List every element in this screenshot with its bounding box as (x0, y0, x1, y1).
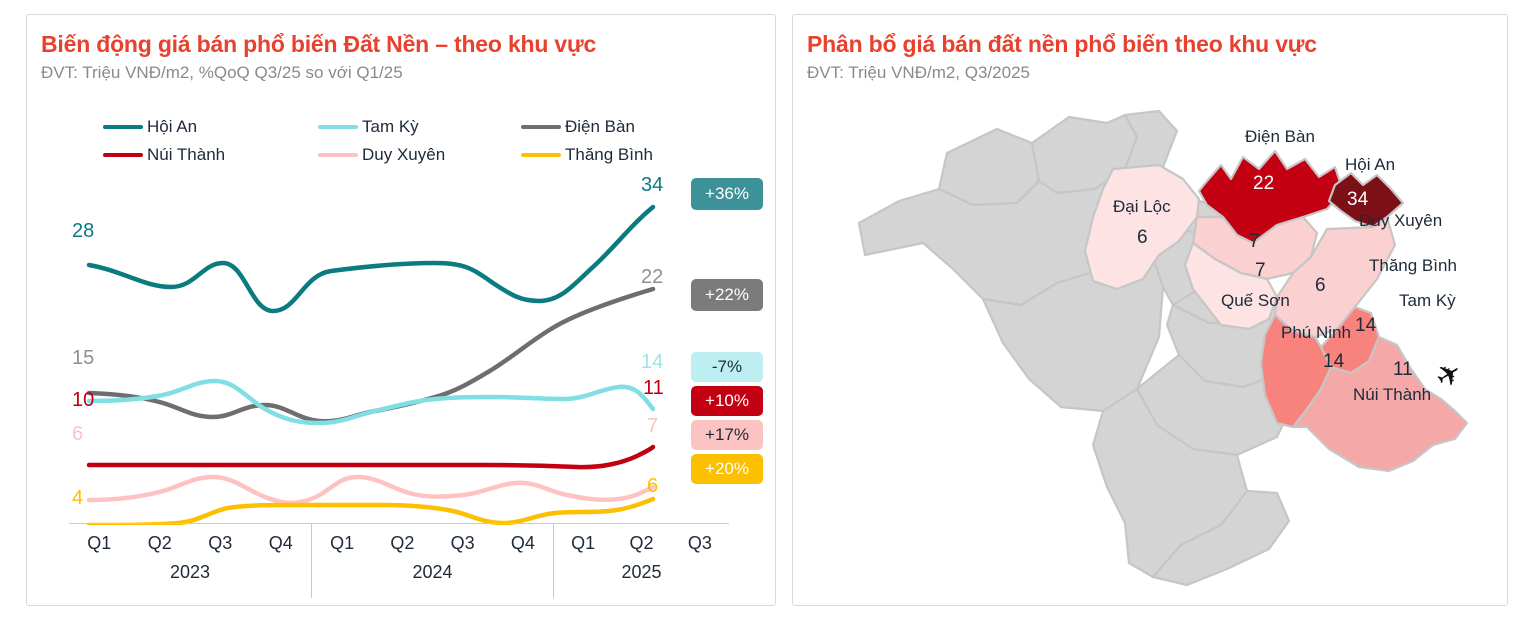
axis-year-label-2024: 2024 (312, 562, 553, 598)
line-chart-card: Biến động giá bán phổ biến Đất Nền – the… (26, 14, 776, 606)
end-label-thang-binh: 6 (647, 475, 658, 498)
axis-tick-2023-q1: Q1 (69, 533, 130, 554)
right-panel-title: Phân bổ giá bán đất nền phổ biến theo kh… (807, 31, 1317, 58)
legend-item-dien-ban[interactable]: Điện Bàn (521, 117, 701, 137)
axis-tick-2023-q2: Q2 (130, 533, 191, 554)
left-panel-subtitle: ĐVT: Triệu VNĐ/m2, %QoQ Q3/25 so với Q1/… (41, 63, 403, 83)
map-value-duy-xuyen: 7 (1249, 231, 1260, 253)
axis-tick-2024-q1: Q1 (312, 533, 372, 554)
axis-quarter-row-2023: Q1 Q2 Q3 Q4 (69, 524, 311, 562)
start-label-duy-xuyen: 6 (72, 423, 83, 446)
axis-quarter-row-2025: Q1 Q2 Q3 (554, 524, 729, 562)
legend-swatch-duy-xuyen (318, 153, 358, 157)
map-label-que-son: Quế Sơn (1221, 291, 1290, 311)
map-value-que-son: 7 (1255, 260, 1266, 282)
start-label-thang-binh: 4 (72, 487, 83, 510)
end-label-nui-thanh: 11 (643, 377, 664, 400)
legend-label-thang-binh: Thăng Bình (565, 145, 653, 165)
dashboard-root: Biến động giá bán phổ biến Đất Nền – the… (0, 0, 1530, 626)
axis-tick-2025-q3: Q3 (671, 533, 729, 554)
legend-label-tam-ky: Tam Kỳ (362, 117, 419, 137)
map-label-hoi-an: Hội An (1345, 155, 1395, 175)
choropleth-map: Điện Bàn 22 Hội An 34 Đại Lộc 6 Duy Xuyê… (807, 93, 1497, 593)
chart-svg (53, 165, 753, 525)
axis-tick-2024-q3: Q3 (433, 533, 493, 554)
map-label-duy-xuyen: Duy Xuyên (1359, 211, 1442, 231)
map-value-thang-binh: 6 (1315, 275, 1326, 297)
series-line-thang-binh (89, 499, 653, 525)
axis-tick-2025-q1: Q1 (554, 533, 612, 554)
axis-tick-2024-q2: Q2 (372, 533, 432, 554)
legend-label-hoi-an: Hội An (147, 117, 197, 137)
map-label-dai-loc: Đại Lộc (1113, 197, 1171, 217)
chart-x-axis: Q1 Q2 Q3 Q4 2023 Q1 Q2 Q3 Q4 2024 (69, 523, 729, 597)
badge-hoi-an: +36% (691, 178, 763, 210)
axis-tick-2023-q4: Q4 (251, 533, 312, 554)
map-value-hoi-an: 34 (1347, 189, 1368, 211)
end-label-dien-ban: 22 (641, 266, 663, 289)
start-label-nui-thanh: 10 (72, 389, 94, 412)
legend-item-tam-ky[interactable]: Tam Kỳ (318, 117, 521, 137)
badge-tam-ky: -7% (691, 352, 763, 382)
axis-tick-2025-q2: Q2 (612, 533, 670, 554)
legend-label-nui-thanh: Núi Thành (147, 145, 225, 165)
map-label-dien-ban: Điện Bàn (1245, 127, 1315, 147)
axis-year-label-2023: 2023 (69, 562, 311, 598)
chart-plot-area (53, 165, 753, 525)
map-label-nui-thanh: Núi Thành (1353, 385, 1431, 405)
start-label-hoi-an: 28 (72, 220, 94, 243)
map-region-tay-giang[interactable] (939, 129, 1039, 205)
axis-quarter-row-2024: Q1 Q2 Q3 Q4 (312, 524, 553, 562)
badge-dien-ban: +22% (691, 279, 763, 311)
axis-year-2025: Q1 Q2 Q3 2025 (553, 524, 729, 598)
axis-tick-2023-q3: Q3 (190, 533, 251, 554)
start-label-dien-ban: 15 (72, 347, 94, 370)
series-line-hoi-an (89, 207, 653, 311)
legend-swatch-nui-thanh (103, 153, 143, 157)
axis-year-groups: Q1 Q2 Q3 Q4 2023 Q1 Q2 Q3 Q4 2024 (69, 524, 729, 598)
map-label-thang-binh: Thăng Bình (1369, 256, 1457, 276)
series-line-tam-ky (89, 381, 653, 423)
map-value-dien-ban: 22 (1253, 173, 1274, 195)
legend-swatch-tam-ky (318, 125, 358, 129)
end-label-tam-ky: 14 (641, 351, 663, 374)
legend-swatch-hoi-an (103, 125, 143, 129)
badge-duy-xuyen: +17% (691, 420, 763, 450)
legend-item-hoi-an[interactable]: Hội An (103, 117, 318, 137)
series-line-duy-xuyen (89, 477, 653, 503)
badge-thang-binh: +20% (691, 454, 763, 484)
map-value-dai-loc: 6 (1137, 227, 1148, 249)
legend-row-1: Hội An Tam Kỳ Điện Bàn (103, 113, 703, 141)
axis-year-label-2025: 2025 (554, 562, 729, 598)
end-label-hoi-an: 34 (641, 174, 663, 197)
map-label-tam-ky: Tam Kỳ (1399, 291, 1456, 311)
series-line-nui-thanh (89, 447, 653, 467)
legend-item-duy-xuyen[interactable]: Duy Xuyên (318, 145, 521, 165)
map-value-nui-thanh: 11 (1393, 359, 1413, 381)
end-label-duy-xuyen: 7 (647, 415, 658, 438)
right-panel-subtitle: ĐVT: Triệu VNĐ/m2, Q3/2025 (807, 63, 1030, 83)
legend-label-duy-xuyen: Duy Xuyên (362, 145, 445, 165)
legend-item-nui-thanh[interactable]: Núi Thành (103, 145, 318, 165)
legend-swatch-thang-binh (521, 153, 561, 157)
map-value-tam-ky: 14 (1355, 315, 1376, 337)
axis-year-2024: Q1 Q2 Q3 Q4 2024 (311, 524, 553, 598)
series-line-dien-ban (89, 289, 653, 421)
badge-nui-thanh: +10% (691, 386, 763, 416)
axis-year-2023: Q1 Q2 Q3 Q4 2023 (69, 524, 311, 598)
legend-item-thang-binh[interactable]: Thăng Bình (521, 145, 701, 165)
axis-tick-2024-q4: Q4 (493, 533, 553, 554)
chart-legend: Hội An Tam Kỳ Điện Bàn Núi Thành (103, 113, 703, 169)
map-card: Phân bổ giá bán đất nền phổ biến theo kh… (792, 14, 1508, 606)
legend-label-dien-ban: Điện Bàn (565, 117, 635, 137)
map-label-phu-ninh: Phú Ninh (1281, 323, 1351, 343)
legend-swatch-dien-ban (521, 125, 561, 129)
left-panel-title: Biến động giá bán phổ biến Đất Nền – the… (41, 31, 596, 58)
map-value-phu-ninh: 14 (1323, 351, 1344, 373)
